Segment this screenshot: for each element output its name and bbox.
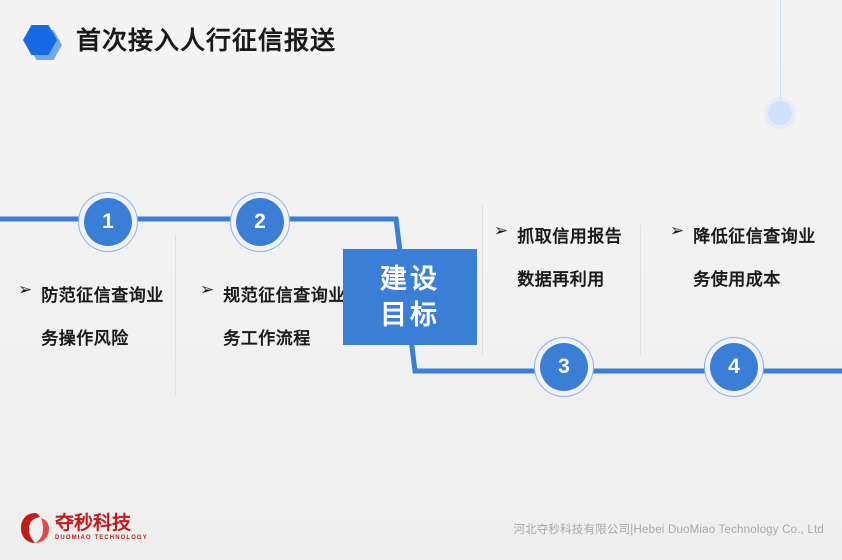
column-divider-2 [482,205,483,355]
footer-logo-cn: 夺秒科技 [55,514,148,534]
flow-item-1-text: 防范征信查询业务操作风险 [41,274,168,360]
center-goal-box: 建设 目标 [343,249,477,345]
flow-item-4: ➢ 降低征信查询业务使用成本 [670,215,820,301]
flow-item-1: ➢ 防范征信查询业务操作风险 [18,274,168,360]
flow-item-2-text: 规范征信查询业务工作流程 [223,274,355,360]
decorative-line [780,0,781,106]
duomiao-logo-icon [20,512,50,544]
slide-root: 首次接入人行征信报送 建设 目标 1 2 3 4 ➢ 防范征信查询业务操作风险 … [0,0,842,560]
decorative-dot [768,101,792,125]
flow-node-4[interactable]: 4 [710,343,758,391]
footer-company-text: 河北夺秒科技有限公司|Hebei DuoMiao Technology Co.,… [513,521,824,537]
flow-node-2-number: 2 [254,210,266,234]
column-divider-1 [175,235,176,395]
hexagon-icon [20,17,64,61]
flow-node-3-number: 3 [558,355,570,379]
flow-node-1-number: 1 [102,210,114,234]
arrow-bullet-icon: ➢ [18,274,32,306]
page-title: 首次接入人行征信报送 [76,21,336,57]
flow-item-4-text: 降低征信查询业务使用成本 [693,215,820,301]
arrow-bullet-icon: ➢ [494,215,508,247]
flow-node-4-number: 4 [728,355,740,379]
slide-header: 首次接入人行征信报送 [0,0,842,78]
flow-item-3: ➢ 抓取信用报告数据再利用 [494,215,639,301]
flow-item-2: ➢ 规范征信查询业务工作流程 [200,274,355,360]
flow-node-2[interactable]: 2 [236,198,284,246]
footer-logo: 夺秒科技 DUOMIAO TECHNOLOGY [20,512,148,544]
center-goal-line1: 建设 [380,261,440,297]
column-divider-3 [640,225,641,355]
arrow-bullet-icon: ➢ [670,215,684,247]
footer-logo-text: 夺秒科技 DUOMIAO TECHNOLOGY [55,514,148,543]
footer-logo-en: DUOMIAO TECHNOLOGY [55,534,148,543]
flow-node-3[interactable]: 3 [540,343,588,391]
flow-item-3-text: 抓取信用报告数据再利用 [517,215,639,301]
flow-node-1[interactable]: 1 [84,198,132,246]
center-goal-line2: 目标 [380,297,440,333]
arrow-bullet-icon: ➢ [200,274,214,306]
